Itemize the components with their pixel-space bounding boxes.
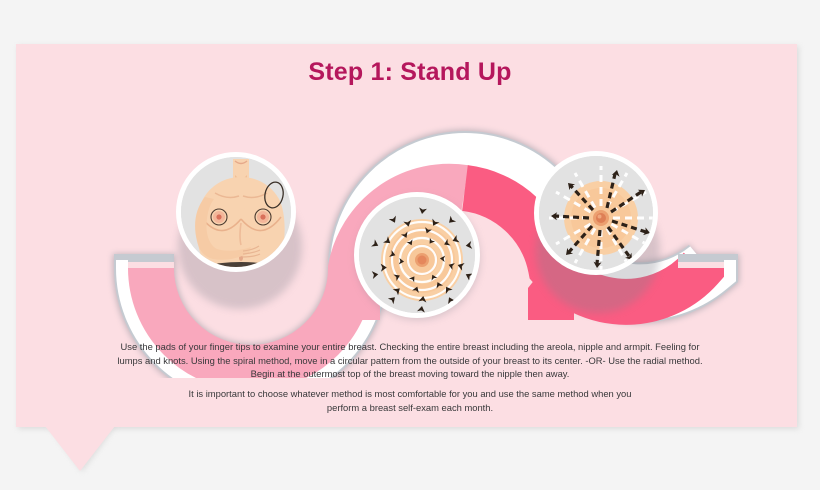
infographic-card: Use the pads of your finger tips to exam… <box>16 44 797 427</box>
speech-bubble-tail <box>45 426 115 471</box>
body-paragraph-2: It is important to choose whatever metho… <box>180 387 640 414</box>
page-title: Step 1: Stand Up <box>0 58 820 87</box>
ribbon-cap-left-gap <box>128 262 174 268</box>
body-paragraph-1: Use the pads of your finger tips to exam… <box>110 340 710 381</box>
illustration-torso <box>176 152 296 272</box>
ribbon-cap-left-gray <box>128 254 174 262</box>
ribbon-cap-right-gray <box>678 254 724 262</box>
illustration-spiral <box>354 192 480 318</box>
illustration-radial <box>534 151 658 275</box>
infographic-canvas: Use the pads of your finger tips to exam… <box>0 0 820 490</box>
ribbon-cap-right-gap <box>678 262 724 268</box>
